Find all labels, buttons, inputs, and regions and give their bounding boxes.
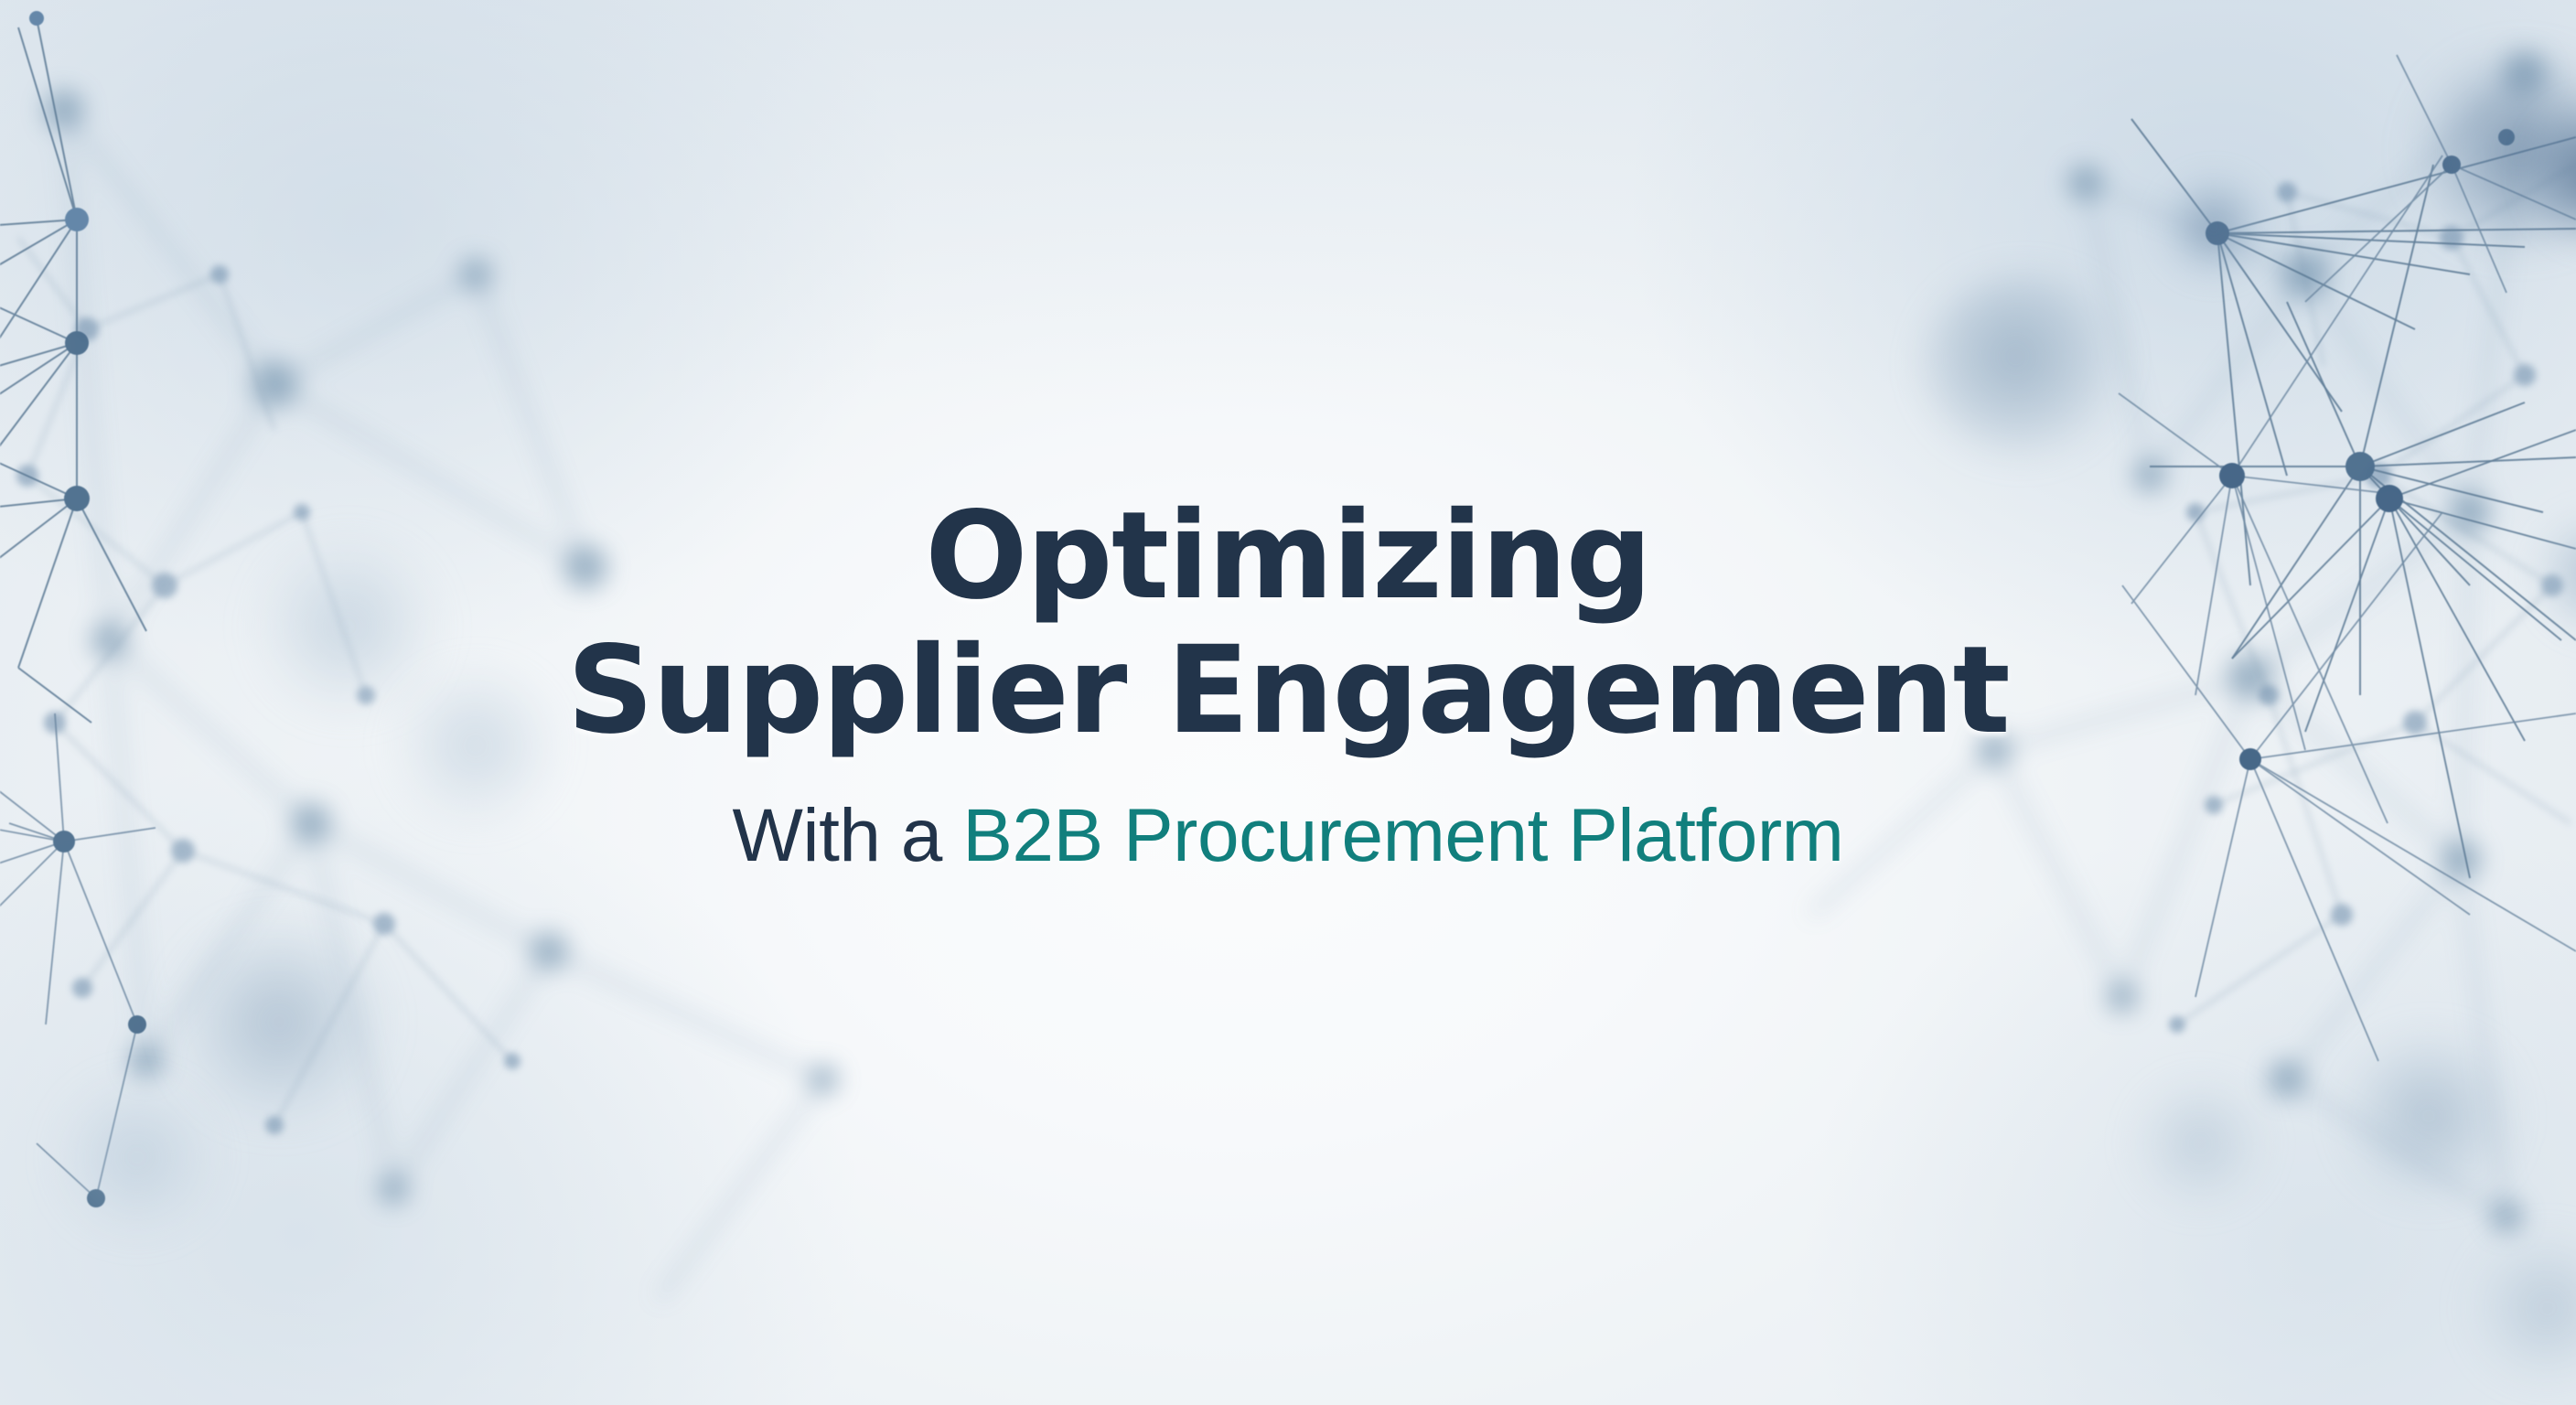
slide-content: Optimizing Supplier Engagement With a B2… bbox=[0, 0, 2576, 1405]
page-title-line-1: Optimizing bbox=[567, 495, 2009, 618]
subtitle-accent-text: B2B Procurement Platform bbox=[962, 794, 1843, 877]
page-subtitle: With a B2B Procurement Platform bbox=[733, 795, 1844, 877]
title-block: Optimizing Supplier Engagement bbox=[567, 495, 2009, 752]
slide-canvas: Optimizing Supplier Engagement With a B2… bbox=[0, 0, 2576, 1405]
subtitle-lead-text: With a bbox=[733, 794, 963, 877]
page-title-line-2: Supplier Engagement bbox=[567, 629, 2009, 753]
